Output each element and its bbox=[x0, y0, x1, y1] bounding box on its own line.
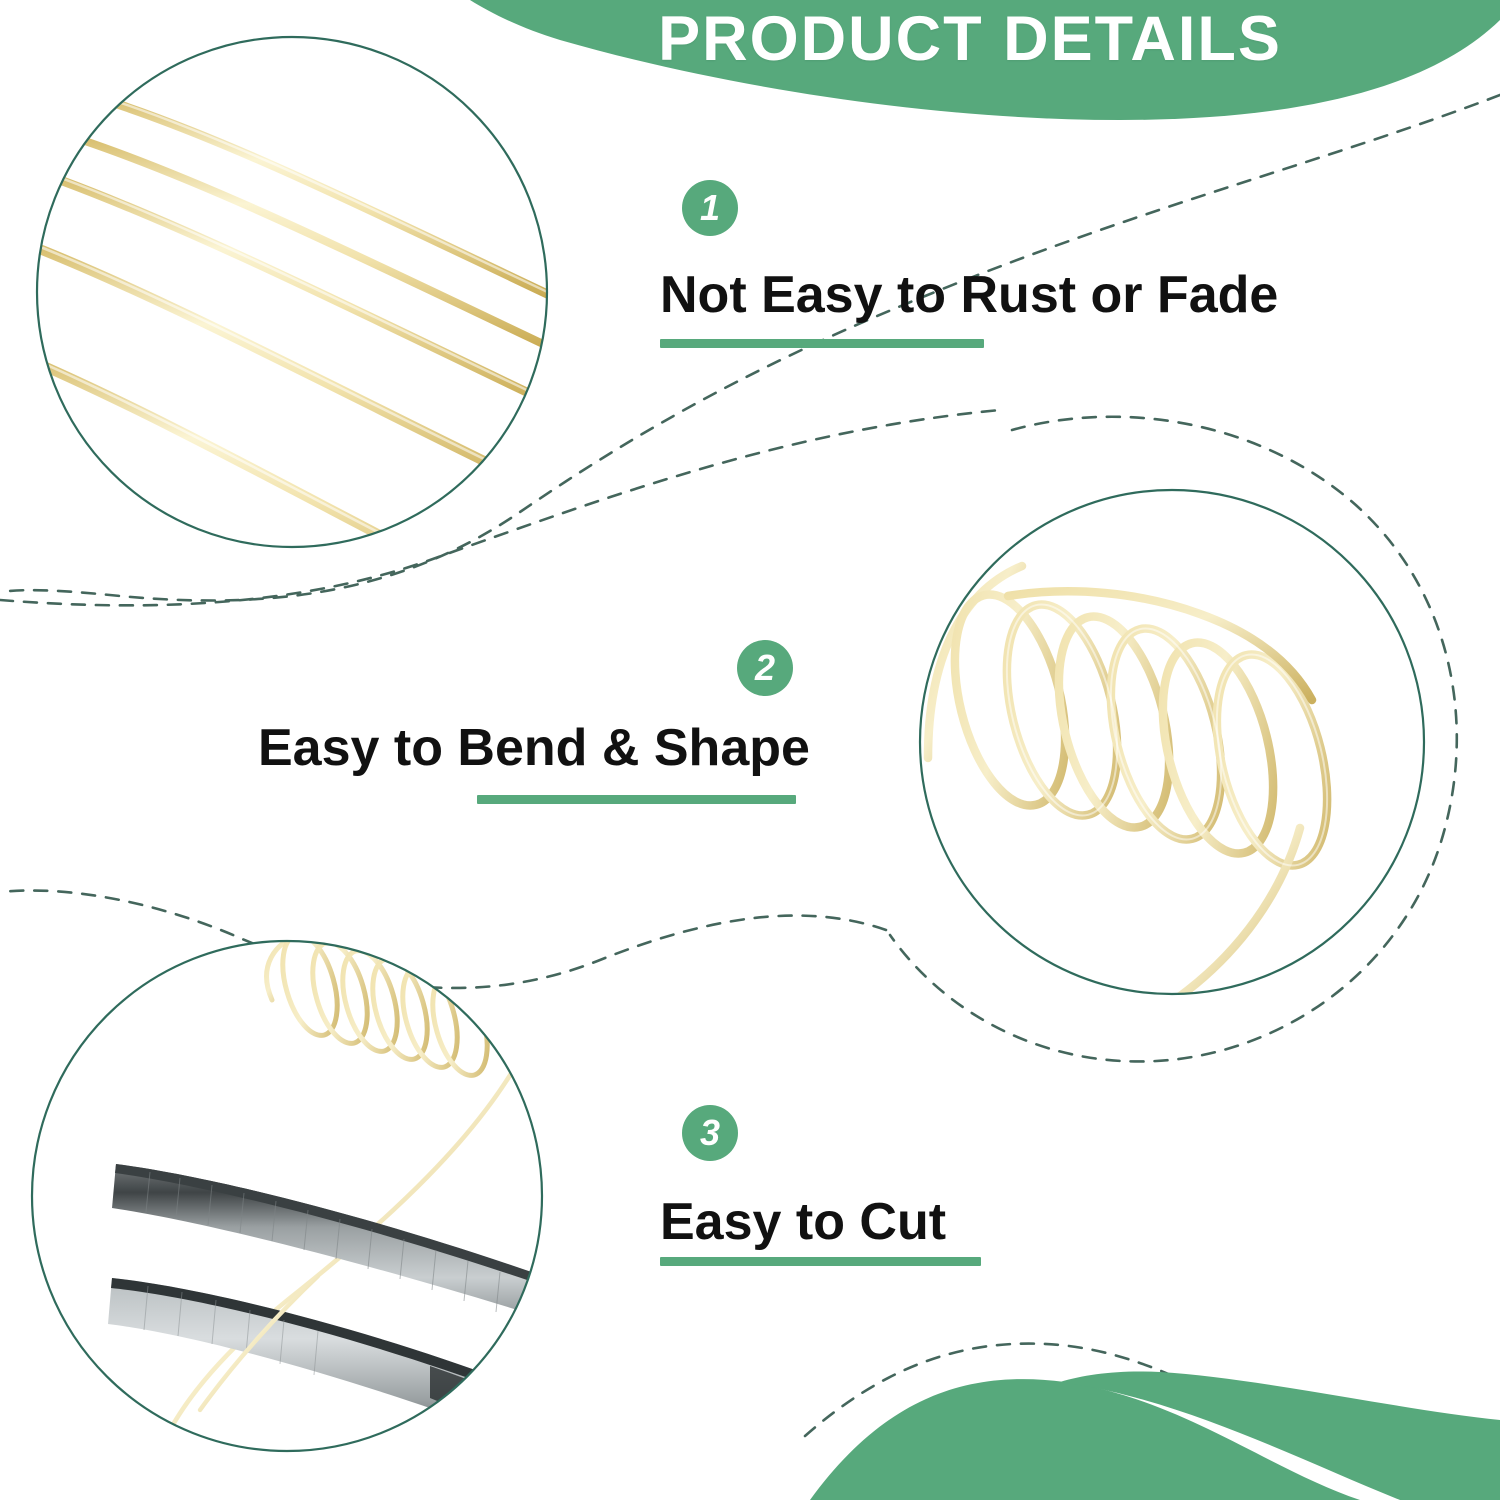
text-layer: PRODUCT DETAILS 1 Not Easy to Rust or Fa… bbox=[0, 0, 1500, 1500]
product-details-infographic: PRODUCT DETAILS 1 Not Easy to Rust or Fa… bbox=[0, 0, 1500, 1500]
feature-1-number-badge: 1 bbox=[682, 180, 738, 236]
feature-1-title: Not Easy to Rust or Fade bbox=[660, 269, 1278, 321]
feature-3-number-badge: 3 bbox=[682, 1105, 738, 1161]
feature-2-title: Easy to Bend & Shape bbox=[258, 722, 810, 774]
feature-1-underline bbox=[660, 339, 984, 348]
feature-3-title: Easy to Cut bbox=[660, 1196, 946, 1248]
page-title: PRODUCT DETAILS bbox=[640, 6, 1300, 72]
feature-2-underline bbox=[477, 795, 796, 804]
feature-2-number-badge: 2 bbox=[737, 640, 793, 696]
feature-3-underline bbox=[660, 1257, 981, 1266]
